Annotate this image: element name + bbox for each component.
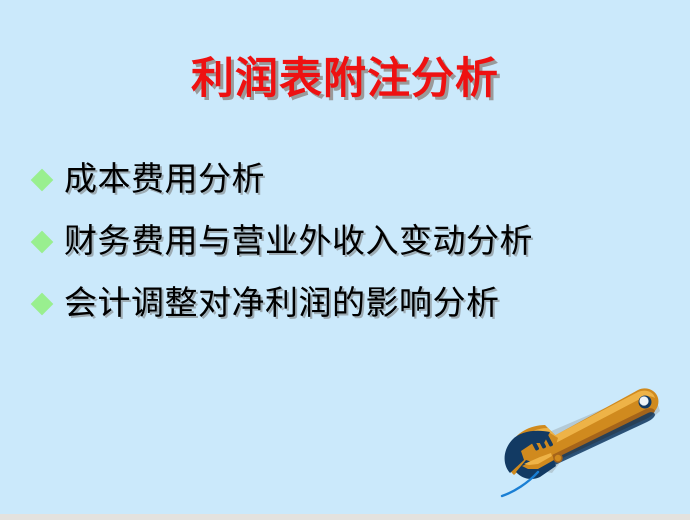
list-item[interactable]: 财务费用与营业外收入变动分析 — [30, 210, 660, 272]
slide-canvas: 利润表附注分析 成本费用分析 财务费用与营业外收入变动分析 会计调整对净利润的影… — [0, 0, 690, 520]
bullet-list: 成本费用分析 财务费用与营业外收入变动分析 会计调整对净利润的影响分析 — [30, 148, 660, 334]
list-item[interactable]: 会计调整对净利润的影响分析 — [30, 272, 660, 334]
list-item-label: 会计调整对净利润的影响分析 — [64, 285, 500, 321]
wrench-icon — [488, 380, 678, 505]
list-item[interactable]: 成本费用分析 — [30, 148, 660, 210]
list-item-label: 财务费用与营业外收入变动分析 — [64, 223, 533, 259]
diamond-bullet-icon — [30, 168, 54, 192]
diamond-bullet-icon — [30, 292, 54, 316]
list-item-label: 成本费用分析 — [64, 161, 265, 197]
page-title: 利润表附注分析 — [0, 57, 690, 102]
diamond-bullet-icon — [30, 230, 54, 254]
bottom-edge-strip — [0, 514, 690, 520]
